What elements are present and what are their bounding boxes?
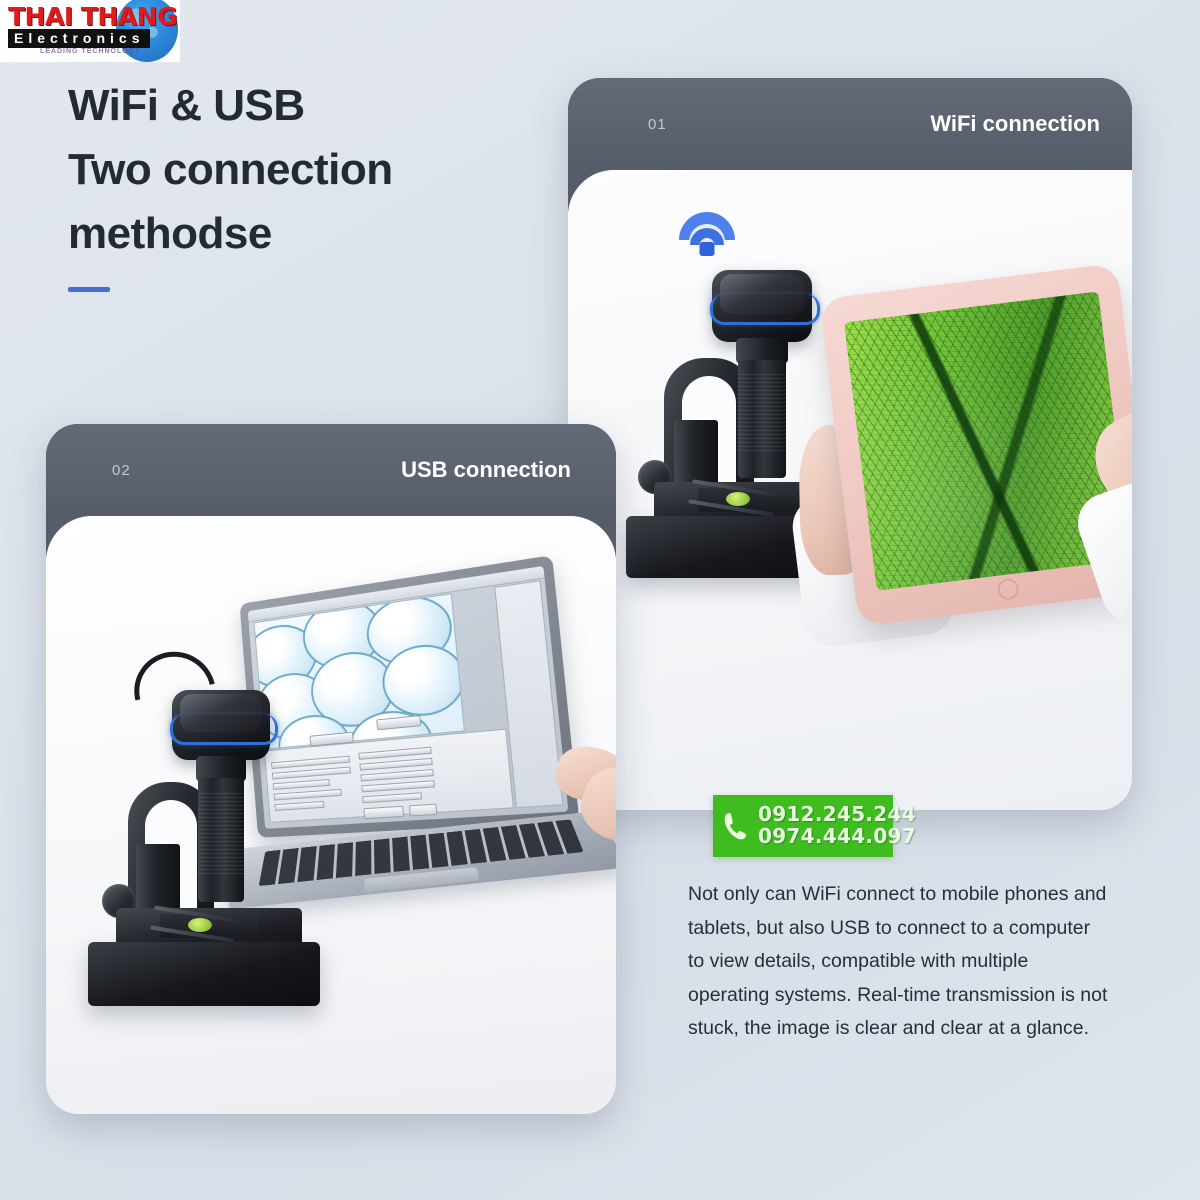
card-usb-title: USB connection <box>401 457 571 483</box>
headline-line-1: WiFi & USB <box>68 81 305 130</box>
card-wifi-number: 01 <box>648 116 667 133</box>
headline-text: WiFi & USB Two connection methodse <box>68 74 548 265</box>
card-usb-connection: 02 USB connection <box>46 424 616 1114</box>
headline-line-2: Two connection <box>68 145 393 194</box>
phone-numbers: 0912.245.244 0974.444.097 <box>758 804 916 847</box>
headline-line-3: methodse <box>68 209 272 258</box>
card-wifi-title: WiFi connection <box>930 111 1100 137</box>
card-usb-photo <box>46 516 616 1114</box>
wifi-icon <box>678 212 736 256</box>
card-wifi-photo <box>568 170 1132 810</box>
tablet-case <box>819 263 1132 627</box>
phone-number-2: 0974.444.097 <box>758 826 916 848</box>
card-wifi-connection: 01 WiFi connection <box>568 78 1132 810</box>
phone-number-1: 0912.245.244 <box>758 804 916 826</box>
card-wifi-header: 01 WiFi connection <box>568 78 1132 170</box>
tablet-device <box>819 263 1132 627</box>
phone-icon <box>723 811 749 841</box>
brand-tagline: LEADING TECHNOLOGY <box>40 48 141 55</box>
wifi-scene <box>568 170 1132 810</box>
headline-accent-bar <box>68 287 110 292</box>
brand-name-primary: THAI THANG <box>8 2 177 31</box>
contact-phone-badge[interactable]: 0912.245.244 0974.444.097 <box>713 795 893 857</box>
card-usb-number: 02 <box>112 462 131 479</box>
page-headline: WiFi & USB Two connection methodse <box>68 74 548 292</box>
body-paragraph: Not only can WiFi connect to mobile phon… <box>688 878 1108 1046</box>
brand-name-secondary: Electronics <box>8 29 150 48</box>
microscope-usb <box>76 676 326 1076</box>
tablet-home-button <box>997 577 1020 600</box>
card-usb-header: 02 USB connection <box>46 424 616 516</box>
usb-scene <box>46 516 616 1114</box>
brand-logo: THAI THANG Electronics LEADING TECHNOLOG… <box>0 0 180 62</box>
